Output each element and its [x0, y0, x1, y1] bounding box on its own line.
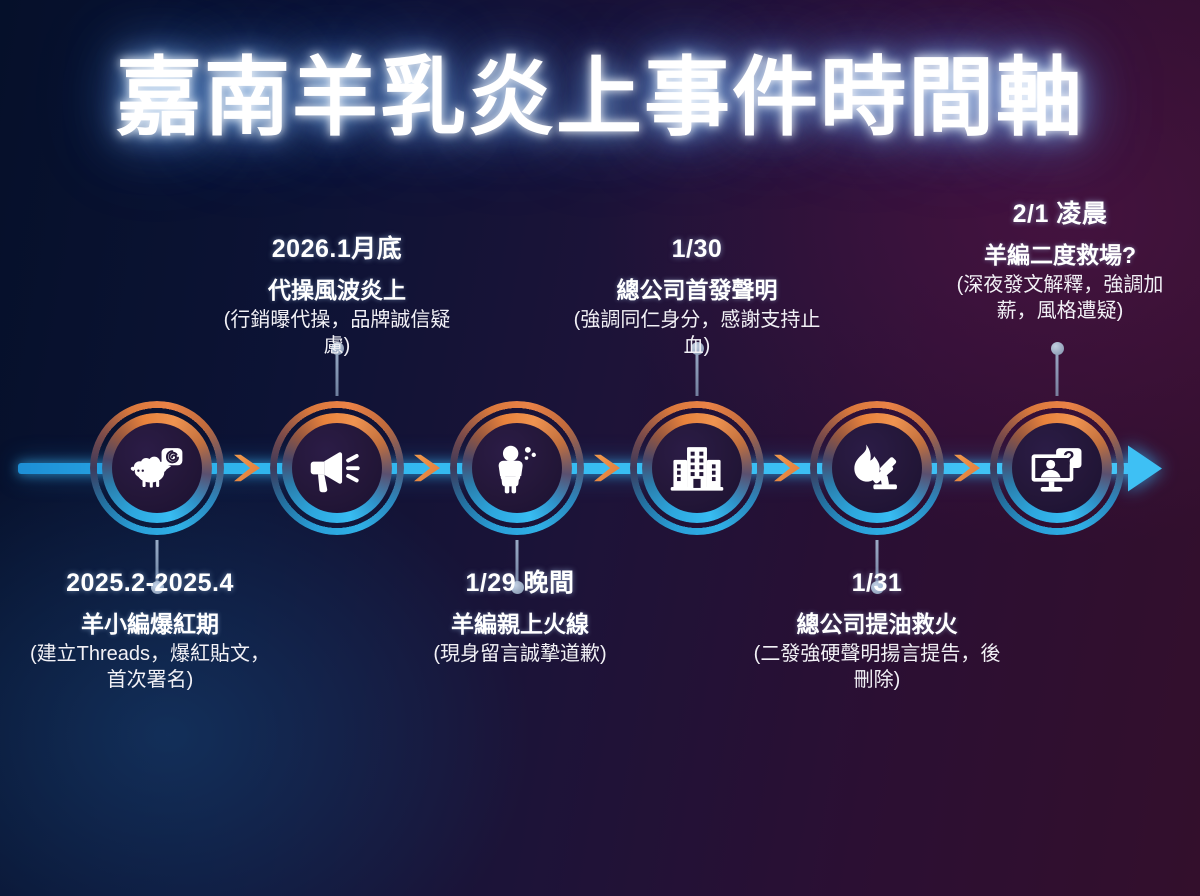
event-headline: 羊小編爆紅期 [27, 609, 273, 640]
office-building-icon [668, 439, 726, 497]
timeline-stem-6 [1056, 348, 1059, 396]
timeline-node-2[interactable] [270, 401, 404, 535]
page-title: 嘉南羊乳炎上事件時間軸 [116, 52, 1084, 145]
event-detail: (強調同仁身分，感謝支持止血) [572, 307, 822, 360]
event-date: 2/1 凌晨 [945, 198, 1175, 231]
chevron-right-icon [234, 453, 260, 483]
arrow-right-icon [1128, 445, 1162, 491]
node-icon-disc [112, 423, 202, 513]
node-icon-disc [652, 423, 742, 513]
monitor-question-icon: ? [1028, 439, 1086, 497]
chevron-right-icon [414, 453, 440, 483]
megaphone-icon [308, 439, 366, 497]
timeline-label-6: 2/1 凌晨 羊編二度救場? (深夜發文解釋，強調加薪，風格遭疑) [945, 198, 1175, 324]
node-icon-disc [292, 423, 382, 513]
flame-gavel-icon [848, 439, 906, 497]
node-icon-disc: ? [1012, 423, 1102, 513]
node-icon-disc [472, 423, 562, 513]
bowing-person-icon [488, 439, 546, 497]
node-icon-disc [832, 423, 922, 513]
event-date: 1/31 [752, 567, 1002, 600]
event-date: 2025.2-2025.4 [27, 567, 273, 600]
event-detail: (深夜發文解釋，強調加薪，風格遭疑) [945, 272, 1175, 325]
timeline-node-6[interactable]: ? [990, 401, 1124, 535]
event-detail: (建立Threads，爆紅貼文，首次署名) [27, 641, 273, 694]
event-detail: (行銷曝代操，品牌誠信疑慮) [212, 307, 462, 360]
event-detail: (現身留言誠摯道歉) [395, 641, 645, 667]
timeline-label-1: 2025.2-2025.4 羊小編爆紅期 (建立Threads，爆紅貼文，首次署… [27, 567, 273, 693]
chevron-right-icon [954, 453, 980, 483]
timeline-node-3[interactable] [450, 401, 584, 535]
timeline-label-2: 2026.1月底 代操風波炎上 (行銷曝代操，品牌誠信疑慮) [212, 233, 462, 359]
timeline-node-4[interactable] [630, 401, 764, 535]
chevron-right-icon [774, 453, 800, 483]
event-date: 2026.1月底 [212, 233, 462, 266]
event-headline: 總公司首發聲明 [572, 275, 822, 306]
event-detail: (二發強硬聲明揚言提告，後刪除) [752, 641, 1002, 694]
event-headline: 羊編親上火線 [395, 609, 645, 640]
timeline-label-4: 1/30 總公司首發聲明 (強調同仁身分，感謝支持止血) [572, 233, 822, 359]
timeline-node-1[interactable] [90, 401, 224, 535]
event-headline: 羊編二度救場? [945, 240, 1175, 271]
event-date: 1/29 晚間 [395, 567, 645, 600]
page-title-container: 嘉南羊乳炎上事件時間軸 [0, 52, 1200, 145]
chevron-right-icon [594, 453, 620, 483]
timeline-node-5[interactable] [810, 401, 944, 535]
event-headline: 總公司提油救火 [752, 609, 1002, 640]
timeline-label-5: 1/31 總公司提油救火 (二發強硬聲明揚言提告，後刪除) [752, 567, 1002, 693]
sheep-threads-icon [128, 439, 186, 497]
svg-text:?: ? [1063, 448, 1075, 469]
timeline-label-3: 1/29 晚間 羊編親上火線 (現身留言誠摯道歉) [395, 567, 645, 667]
event-headline: 代操風波炎上 [212, 275, 462, 306]
event-date: 1/30 [572, 233, 822, 266]
